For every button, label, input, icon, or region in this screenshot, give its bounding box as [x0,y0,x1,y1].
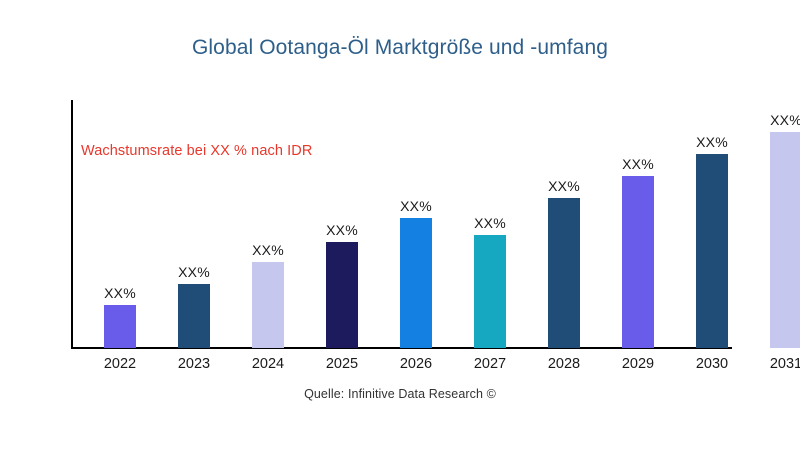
x-tick-2022: 2022 [91,356,149,372]
x-tick-2027: 2027 [461,356,519,372]
bar-2026[interactable] [400,218,432,348]
source-note: Quelle: Infinitive Data Research © [0,387,800,401]
x-tick-2031: 2031 [757,356,800,372]
x-tick-2026: 2026 [387,356,445,372]
bar-value-label-2024: XX% [252,242,284,258]
bar-value-label-2031: XX% [770,112,800,128]
bar-group-2026[interactable]: XX% [400,218,432,348]
bar-2023[interactable] [178,284,210,348]
bar-value-label-2029: XX% [622,156,654,172]
x-tick-2028: 2028 [535,356,593,372]
x-tick-2024: 2024 [239,356,297,372]
bar-group-2024[interactable]: XX% [252,262,284,348]
bar-group-2031[interactable]: XX% [770,132,800,348]
bar-2025[interactable] [326,242,358,348]
bar-2022[interactable] [104,305,136,348]
bar-2030[interactable] [696,154,728,348]
bar-group-2025[interactable]: XX% [326,242,358,348]
bar-group-2030[interactable]: XX% [696,154,728,348]
x-tick-2023: 2023 [165,356,223,372]
bar-group-2029[interactable]: XX% [622,176,654,348]
bar-group-2027[interactable]: XX% [474,235,506,348]
chart-container: Global Ootanga-Öl Marktgröße und -umfang… [0,0,800,450]
bar-2024[interactable] [252,262,284,348]
bar-value-label-2026: XX% [400,198,432,214]
bar-value-label-2023: XX% [178,264,210,280]
bar-group-2022[interactable]: XX% [104,305,136,348]
bar-value-label-2022: XX% [104,285,136,301]
x-tick-2029: 2029 [609,356,667,372]
bar-value-label-2025: XX% [326,222,358,238]
bar-2029[interactable] [622,176,654,348]
bar-series: XX%2022XX%2023XX%2024XX%2025XX%2026XX%20… [0,0,800,450]
bar-group-2028[interactable]: XX% [548,198,580,348]
bar-2028[interactable] [548,198,580,348]
bar-value-label-2028: XX% [548,178,580,194]
bar-group-2023[interactable]: XX% [178,284,210,348]
bar-value-label-2030: XX% [696,134,728,150]
bar-2027[interactable] [474,235,506,348]
x-tick-2025: 2025 [313,356,371,372]
bar-2031[interactable] [770,132,800,348]
bar-value-label-2027: XX% [474,215,506,231]
x-tick-2030: 2030 [683,356,741,372]
